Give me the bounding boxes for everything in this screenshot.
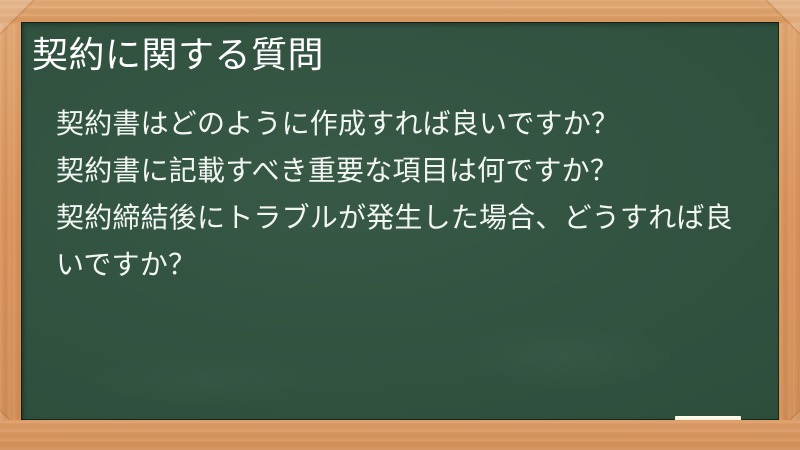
chalkboard-surface: 契約に関する質問 契約書はどのように作成すれば良いですか？ 契約書に記載すべき重… (21, 22, 779, 420)
question-item: 契約書はどのように作成すれば良いですか？ (56, 100, 756, 147)
question-list: 契約書はどのように作成すれば良いですか？ 契約書に記載すべき重要な項目は何ですか… (56, 100, 756, 288)
question-item: 契約締結後にトラブルが発生した場合、どうすれば良いですか？ (56, 194, 756, 288)
slide-title: 契約に関する質問 (32, 32, 732, 78)
chalk-smudge (81, 352, 341, 407)
chalk-smudge (451, 322, 681, 392)
chalk-stick-icon (675, 416, 741, 425)
chalkboard-frame: 契約に関する質問 契約書はどのように作成すれば良いですか？ 契約書に記載すべき重… (0, 0, 800, 450)
question-item: 契約書に記載すべき重要な項目は何ですか？ (56, 147, 756, 194)
